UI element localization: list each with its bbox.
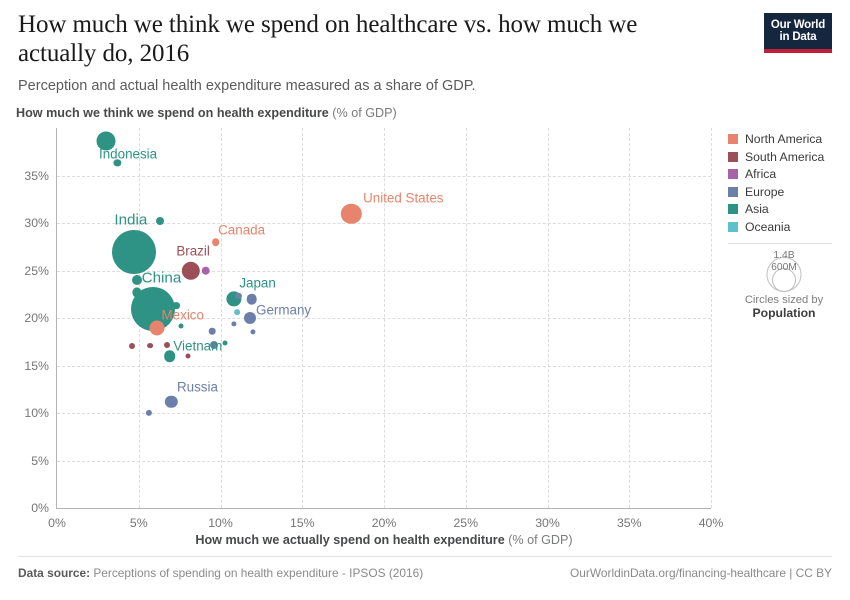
chart-header: How much we think we spend on healthcare…	[18, 10, 658, 94]
continent-legend[interactable]: North AmericaSouth AmericaAfricaEuropeAs…	[728, 132, 840, 237]
x-axis-tick-label: 20%	[372, 516, 397, 530]
label-indonesia: Indonesia	[99, 147, 157, 162]
label-india: India	[114, 211, 147, 228]
bubble-russia[interactable]	[165, 395, 177, 407]
x-axis-unit: (% of GDP)	[508, 533, 572, 547]
y-axis-title-text: How much we think we spend on health exp…	[16, 106, 329, 120]
y-axis-tick-label: 5%	[31, 454, 49, 468]
gridline-vertical	[711, 128, 712, 508]
y-axis-tick-label: 25%	[24, 264, 49, 278]
x-axis-title-text: How much we actually spend on health exp…	[195, 533, 504, 547]
size-legend-bubbles: 1.4B 600M	[728, 250, 840, 292]
footer-divider	[18, 556, 832, 557]
legend-color-swatch	[728, 169, 738, 179]
y-axis-tick-label: 0%	[31, 501, 49, 515]
legend-item-label: Asia	[745, 202, 769, 216]
bubble-unlabeled[interactable]	[223, 340, 228, 345]
legend-item-label: North America	[745, 132, 822, 146]
gridline-horizontal	[57, 223, 711, 224]
size-legend: 1.4B 600M Circles sized by Population	[728, 250, 840, 320]
x-axis-tick-label: 35%	[617, 516, 642, 530]
y-axis-tick-label: 35%	[24, 169, 49, 183]
label-japan: Japan	[239, 276, 275, 291]
chart-subtitle: Perception and actual health expenditure…	[18, 78, 658, 94]
bubble-unlabeled[interactable]	[231, 321, 236, 326]
x-axis-tick-label: 30%	[535, 516, 560, 530]
logo-line-1: Our World	[771, 19, 825, 31]
logo-line-2: in Data	[780, 31, 817, 43]
bubble-brazil[interactable]	[182, 261, 200, 279]
gridline-horizontal	[57, 366, 711, 367]
gridline-horizontal	[57, 413, 711, 414]
size-legend-metric: Population	[728, 306, 840, 320]
bubble-unlabeled[interactable]	[132, 275, 142, 285]
legend-item-label: Europe	[745, 185, 784, 199]
gridline-horizontal	[57, 461, 711, 462]
bubble-unlabeled[interactable]	[251, 330, 256, 335]
y-axis-tick-label: 30%	[24, 216, 49, 230]
x-axis-tick-label: 10%	[208, 516, 233, 530]
legend-item-label: Oceania	[745, 220, 790, 234]
bubble-unlabeled[interactable]	[147, 343, 153, 349]
label-vietnam: Vietnam	[173, 339, 222, 354]
legend-item-oceania[interactable]: Oceania	[728, 220, 840, 234]
x-axis-tick-label: 5%	[130, 516, 148, 530]
x-axis-tick-label: 40%	[699, 516, 724, 530]
legend-item-label: South America	[745, 150, 824, 164]
legend-divider	[728, 243, 832, 244]
legend-color-swatch	[728, 204, 738, 214]
legend-item-asia[interactable]: Asia	[728, 202, 840, 216]
attribution-link[interactable]: OurWorldinData.org/financing-healthcare …	[570, 566, 832, 580]
size-label-small: 600M	[771, 262, 797, 273]
label-united-states: United States	[363, 190, 443, 205]
label-mexico: Mexico	[162, 307, 204, 322]
x-axis-tick-label: 25%	[453, 516, 478, 530]
size-legend-caption: Circles sized by	[728, 294, 840, 306]
bubble-unlabeled[interactable]	[179, 323, 184, 328]
bubble-unlabeled[interactable]	[201, 266, 210, 275]
bubble-unlabeled[interactable]	[185, 354, 190, 359]
data-source-text: Perceptions of spending on health expend…	[93, 566, 423, 580]
our-world-in-data-logo[interactable]: Our World in Data	[764, 13, 832, 53]
page-title: How much we think we spend on healthcare…	[18, 10, 658, 69]
x-axis-title: How much we actually spend on health exp…	[57, 533, 711, 547]
data-source-prefix: Data source:	[18, 566, 90, 580]
legend-item-africa[interactable]: Africa	[728, 167, 840, 181]
y-axis-tick-label: 20%	[24, 311, 49, 325]
bubble-unlabeled[interactable]	[156, 217, 164, 225]
data-source: Data source: Perceptions of spending on …	[18, 566, 423, 580]
bubble-mexico[interactable]	[149, 320, 164, 335]
legend-item-north-america[interactable]: North America	[728, 132, 840, 146]
y-axis-title: How much we think we spend on health exp…	[16, 106, 397, 120]
bubble-unlabeled[interactable]	[244, 312, 256, 324]
y-axis-unit: (% of GDP)	[332, 106, 396, 120]
legend-color-swatch	[728, 134, 738, 144]
legend-color-swatch	[728, 187, 738, 197]
bubble-united-states[interactable]	[341, 203, 361, 223]
size-label-large: 1.4B	[773, 250, 794, 261]
label-russia: Russia	[177, 379, 218, 394]
legend-item-label: Africa	[745, 167, 776, 181]
x-axis-tick-label: 0%	[48, 516, 66, 530]
bubble-unlabeled[interactable]	[234, 309, 240, 315]
legend-item-europe[interactable]: Europe	[728, 185, 840, 199]
y-axis-tick-label: 15%	[24, 359, 49, 373]
bubble-unlabeled[interactable]	[209, 328, 216, 335]
bubble-unlabeled[interactable]	[145, 410, 151, 416]
bubble-india[interactable]	[112, 230, 156, 274]
bubble-unlabeled[interactable]	[164, 342, 170, 348]
label-canada: Canada	[218, 223, 265, 238]
bubble-unlabeled[interactable]	[129, 343, 135, 349]
label-brazil: Brazil	[176, 243, 209, 258]
x-axis-line	[56, 508, 711, 509]
gridline-horizontal	[57, 176, 711, 177]
legend-color-swatch	[728, 152, 738, 162]
label-germany: Germany	[256, 303, 311, 318]
label-china: China	[142, 269, 182, 286]
y-axis-tick-label: 10%	[24, 406, 49, 420]
bubble-canada[interactable]	[212, 238, 220, 246]
legend-color-swatch	[728, 222, 738, 232]
x-axis-tick-label: 15%	[290, 516, 315, 530]
legend-item-south-america[interactable]: South America	[728, 150, 840, 164]
scatter-plot-area: 0%5%10%15%20%25%30%35% 0%5%10%15%20%25%3…	[57, 128, 711, 508]
